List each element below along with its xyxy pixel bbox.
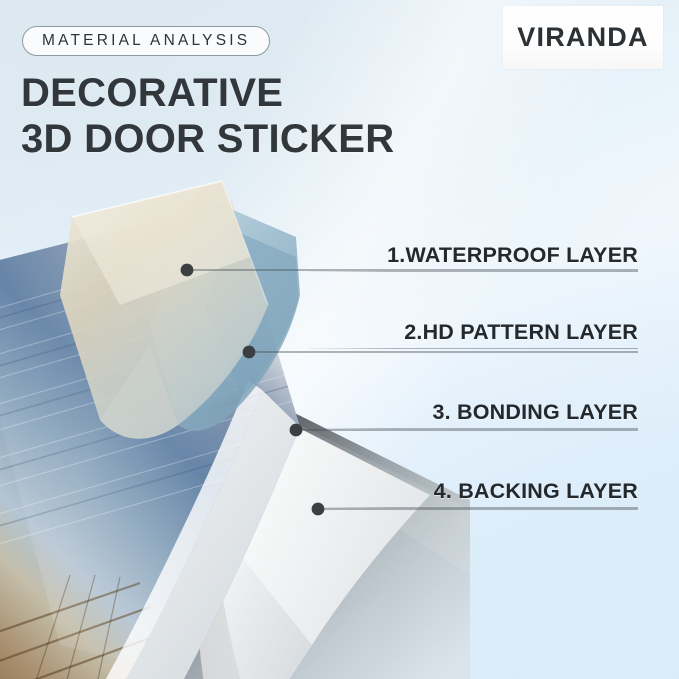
callout-1-waterproof-layer: 1.WATERPROOF LAYER (308, 242, 638, 272)
brand-logo: VIRANDA (503, 6, 663, 69)
callout-4-underline (308, 507, 638, 508)
callout-2-underline (308, 348, 638, 349)
page-title: DECORATIVE 3D DOOR STICKER (21, 70, 491, 162)
title-line-2: 3D DOOR STICKER (21, 116, 491, 162)
material-analysis-badge: MATERIAL ANALYSIS (22, 26, 270, 56)
callout-3-label: 3. BONDING LAYER (308, 399, 638, 425)
callout-2-hd-pattern-layer: 2.HD PATTERN LAYER (308, 319, 638, 349)
title-line-1: DECORATIVE (21, 70, 491, 116)
callout-4-label: 4. BACKING LAYER (308, 478, 638, 504)
callout-1-label: 1.WATERPROOF LAYER (308, 242, 638, 268)
poster-canvas: MATERIAL ANALYSIS DECORATIVE 3D DOOR STI… (0, 0, 679, 679)
callout-1-underline (308, 271, 638, 272)
brand-logo-text: VIRANDA (517, 22, 648, 53)
badge-label: MATERIAL ANALYSIS (42, 32, 250, 50)
callout-2-label: 2.HD PATTERN LAYER (308, 319, 638, 345)
callout-4-backing-layer: 4. BACKING LAYER (308, 478, 638, 508)
callout-3-bonding-layer: 3. BONDING LAYER (308, 399, 638, 429)
callout-3-underline (308, 428, 638, 429)
